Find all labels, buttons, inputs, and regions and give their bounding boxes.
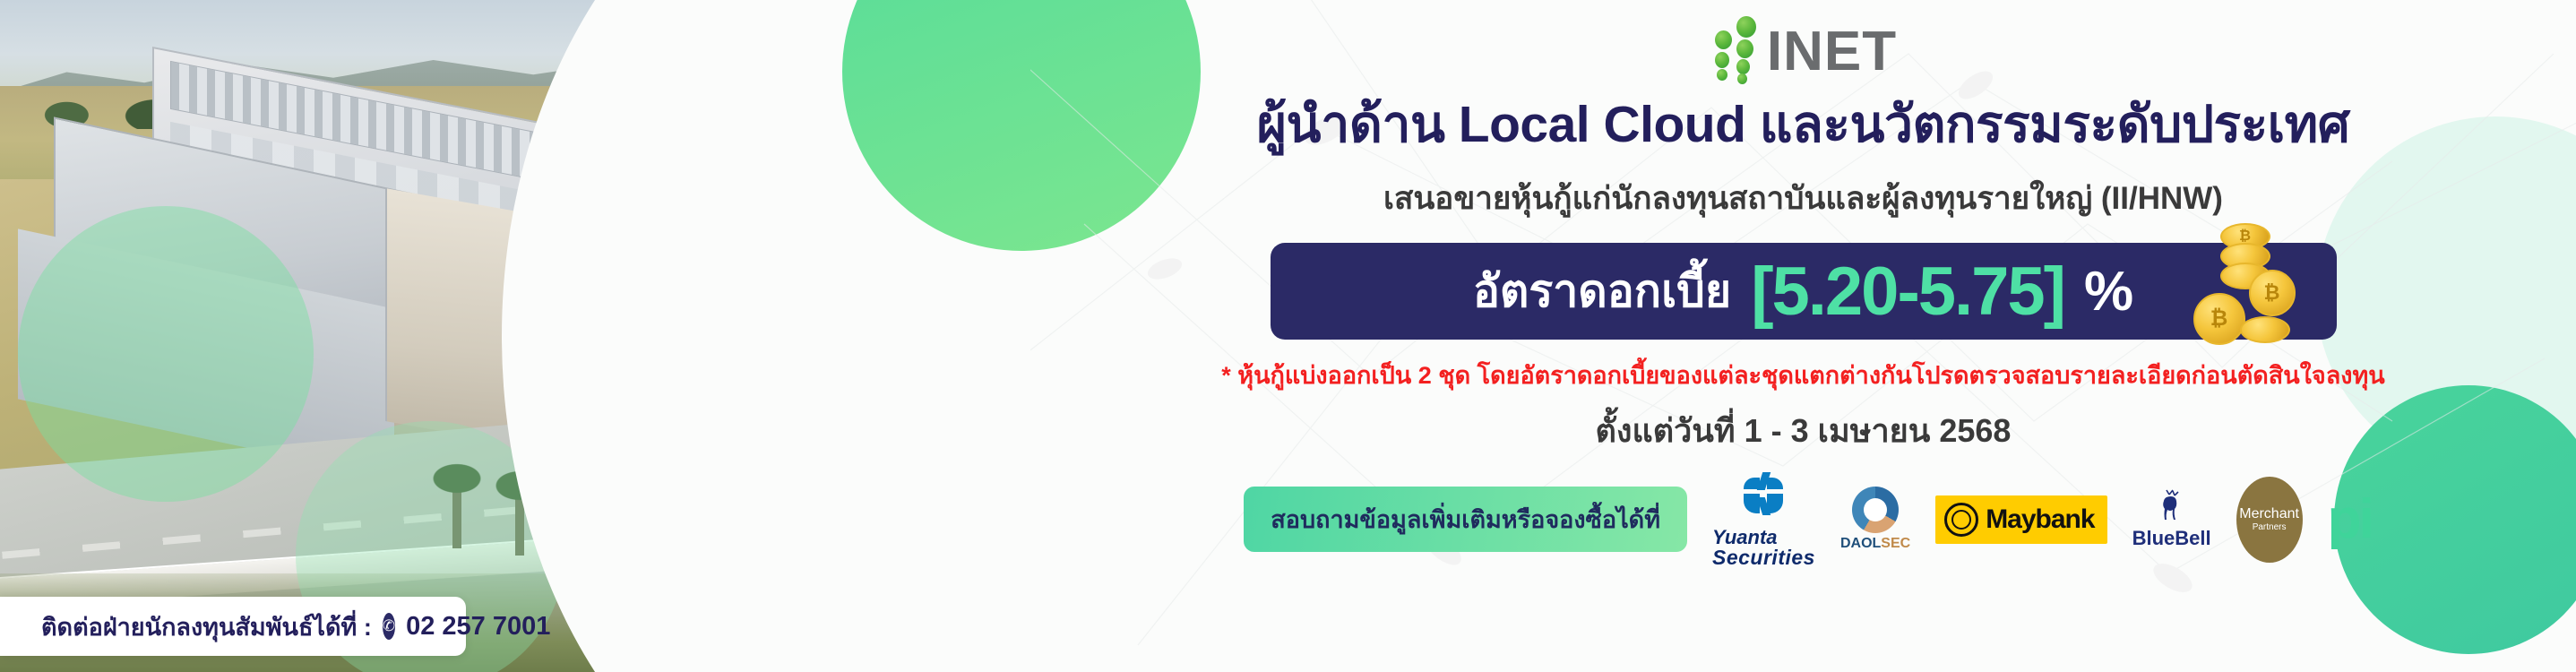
- phone-icon: ✆: [383, 613, 395, 640]
- maybank-tiger-icon: [1944, 503, 1978, 537]
- cta-button[interactable]: สอบถามข้อมูลเพิ่มเติมหรือจองซื้อได้ที่: [1244, 487, 1687, 552]
- page-subtitle: เสนอขายหุ้นกู้แก่นักลงทุนสถาบันและผู้ลงท…: [1383, 174, 2223, 223]
- daol-logo-icon: [1852, 487, 1899, 533]
- contact-card: ติดต่อฝ่ายนักลงทุนสัมพันธ์ได้ที่ : ✆ 02 …: [0, 597, 466, 656]
- contact-label: ติดต่อฝ่ายนักลงทุนสัมพันธ์ได้ที่ :: [41, 607, 372, 646]
- contact-phone-number[interactable]: 02 257 7001: [406, 612, 550, 642]
- offering-dates: ตั้งแต่วันที่ 1 - 3 เมษายน 2568: [1596, 405, 2012, 456]
- partner-logo-maybank[interactable]: Maybank: [1935, 495, 2106, 544]
- partners-row: สอบถามข้อมูลเพิ่มเติมหรือจองซื้อได้ที่ Y…: [1235, 470, 2371, 568]
- merchant-partners-logo-icon: Merchant Partners: [2236, 477, 2303, 563]
- interest-rate-box: อัตราดอกเบี้ย [5.20-5.75] % ₿ ₿ ₿: [1271, 243, 2337, 340]
- maybank-logo-text: Maybank: [1986, 504, 2094, 535]
- partner-logo-yuanta[interactable]: Yuanta Securities: [1712, 470, 1815, 568]
- disclaimer-text: * หุ้นกู้แบ่งออกเป็น 2 ชุด โดยอัตราดอกเบ…: [1221, 356, 2384, 394]
- yuanta-logo-icon: [1739, 470, 1788, 519]
- promotional-banner: INET ผู้นำด้าน Local Cloud และนวัตกรรมระ…: [0, 0, 2576, 672]
- rate-label: อัตราดอกเบี้ย: [1473, 256, 1731, 327]
- pi-logo-text: pi: [2328, 497, 2372, 542]
- content-column: INET ผู้นำด้าน Local Cloud และนวัตกรรมระ…: [1030, 0, 2576, 672]
- merchant-line-1: Merchant: [2239, 506, 2299, 522]
- inet-logo: INET: [1710, 14, 1897, 79]
- page-title: ผู้นำด้าน Local Cloud และนวัตกรรมระดับปร…: [1257, 84, 2350, 165]
- daol-logo-text: DAOLSEC: [1840, 536, 1910, 552]
- yuanta-logo-text: Yuanta Securities: [1712, 528, 1815, 568]
- decorative-circle-left: [18, 206, 314, 502]
- inet-logo-text: INET: [1767, 26, 1897, 79]
- rate-percent-sign: %: [2084, 260, 2133, 323]
- partner-logo-daol[interactable]: DAOLSEC: [1840, 487, 1910, 552]
- partner-logo-pi[interactable]: pi: [2328, 497, 2372, 542]
- gold-coins-icon: ₿ ₿ ₿: [2193, 223, 2310, 358]
- bluebell-deer-icon: [2156, 489, 2188, 527]
- rate-value: [5.20-5.75]: [1751, 253, 2064, 331]
- partner-logo-merchant-partners[interactable]: Merchant Partners: [2236, 477, 2303, 563]
- merchant-line-2: Partners: [2253, 522, 2287, 532]
- inet-dots-logo: [1710, 14, 1765, 79]
- partner-logo-bluebell[interactable]: BlueBell: [2132, 489, 2211, 550]
- bluebell-logo-text: BlueBell: [2132, 527, 2211, 550]
